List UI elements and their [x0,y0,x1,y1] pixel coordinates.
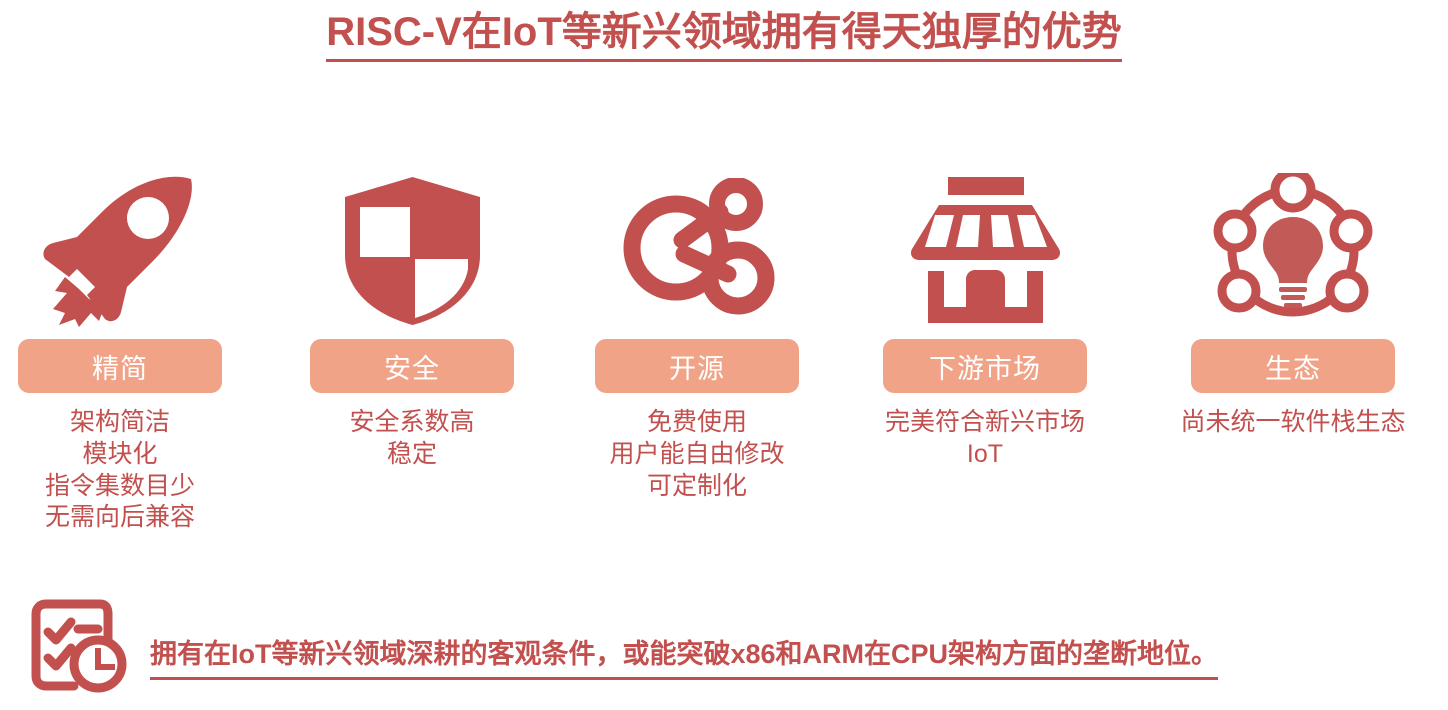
feature-label-shengtai: 生态 [1191,339,1395,393]
rocket-icon [33,170,208,330]
feature-columns: 精简 架构简洁 模块化 指令集数目少 无需向后兼容 安全 安全系数高 稳定 [0,170,1448,534]
feature-description-kaiyuan: 免费使用 用户能自由修改 可定制化 [609,407,784,502]
feature-description-anquan: 安全系数高 稳定 [349,407,474,471]
feature-label-anquan: 安全 [310,339,514,393]
storefront-icon [908,170,1063,330]
feature-label-xiayoushichang: 下游市场 [883,339,1087,393]
feature-label-jingjian: 精简 [18,339,222,393]
open-source-nodes-icon [620,170,775,330]
checklist-clock-icon [28,598,128,696]
feature-column-jingjian: 精简 架构简洁 模块化 指令集数目少 无需向后兼容 [0,170,240,534]
shield-icon [340,170,485,330]
page-title: RISC-V在IoT等新兴领域拥有得天独厚的优势 [326,8,1122,62]
feature-column-xiayoushichang: 下游市场 完美符合新兴市场 IoT [860,170,1110,471]
feature-description-jingjian: 架构简洁 模块化 指令集数目少 无需向后兼容 [45,407,195,534]
feature-column-anquan: 安全 安全系数高 稳定 [292,170,532,471]
page-title-container: RISC-V在IoT等新兴领域拥有得天独厚的优势 [0,8,1448,62]
ecosystem-lightbulb-icon [1213,170,1373,330]
feature-description-shengtai: 尚未统一软件栈生态 [1180,407,1405,439]
feature-label-kaiyuan: 开源 [595,339,799,393]
feature-description-xiayoushichang: 完美符合新兴市场 IoT [885,407,1085,471]
footer-callout-text: 拥有在IoT等新兴领域深耕的客观条件，或能突破x86和ARM在CPU架构方面的垄… [150,632,1218,680]
footer-callout: 拥有在IoT等新兴领域深耕的客观条件，或能突破x86和ARM在CPU架构方面的垄… [28,598,1218,696]
feature-column-kaiyuan: 开源 免费使用 用户能自由修改 可定制化 [577,170,817,502]
feature-column-shengtai: 生态 尚未统一软件栈生态 [1168,170,1418,439]
